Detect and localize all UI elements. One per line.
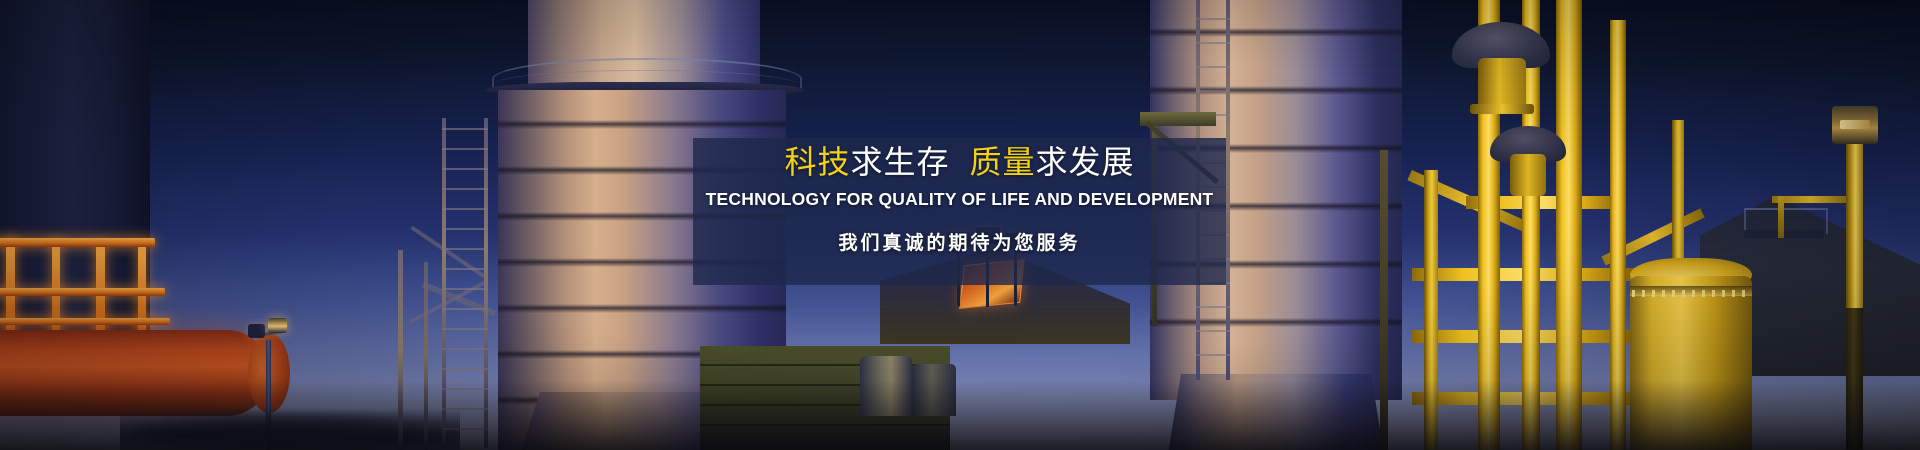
tower-band [498,304,786,313]
tower-band [1150,318,1402,327]
tall-pole-lamp-lens [1840,120,1870,129]
valve-body [1510,154,1546,196]
banner-subtitle-chinese: 我们真诚的期待为您服务 [838,228,1080,255]
tower-band [1150,86,1402,95]
hero-banner: 科技求生存质量求发展 TECHNOLOGY FOR QUALITY OF LIF… [0,0,1920,450]
crane-post [1778,196,1784,238]
railing-rail [0,318,170,325]
banner-subtitle-english: TECHNOLOGY FOR QUALITY OF LIFE AND DEVEL… [706,189,1214,210]
ground-haze [0,380,1920,450]
headline-highlight-1: 科技 [784,144,850,180]
yellow-vessel-bolts [1632,290,1750,297]
tower-band [1150,28,1402,37]
headline-plain-2: 求发展 [1036,144,1135,180]
headline-highlight-2: 质量 [970,144,1036,180]
railing-rail [0,238,155,247]
floodlight-head [268,318,287,333]
valve-body [1478,58,1526,110]
catwalk-deck [1744,230,1824,238]
floodlight-head [248,324,265,338]
banner-headline: 科技求生存质量求发展 [784,144,1134,182]
tower-band [498,120,786,129]
railing-rail [0,288,165,296]
banner-text-panel: 科技求生存质量求发展 TECHNOLOGY FOR QUALITY OF LIF… [693,138,1226,285]
valve-flange [1470,104,1534,114]
headline-plain-1: 求生存 [850,144,949,180]
